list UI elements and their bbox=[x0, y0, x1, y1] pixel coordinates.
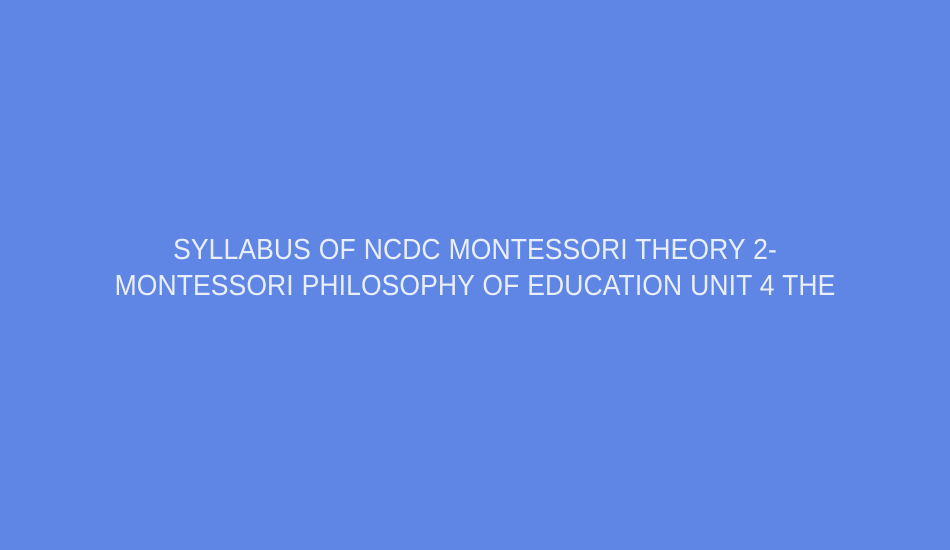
page-title: SYLLABUS OF NCDC MONTESSORI THEORY 2- MO… bbox=[97, 232, 852, 304]
title-card: SYLLABUS OF NCDC MONTESSORI THEORY 2- MO… bbox=[0, 0, 950, 550]
title-block: SYLLABUS OF NCDC MONTESSORI THEORY 2- MO… bbox=[0, 232, 950, 304]
